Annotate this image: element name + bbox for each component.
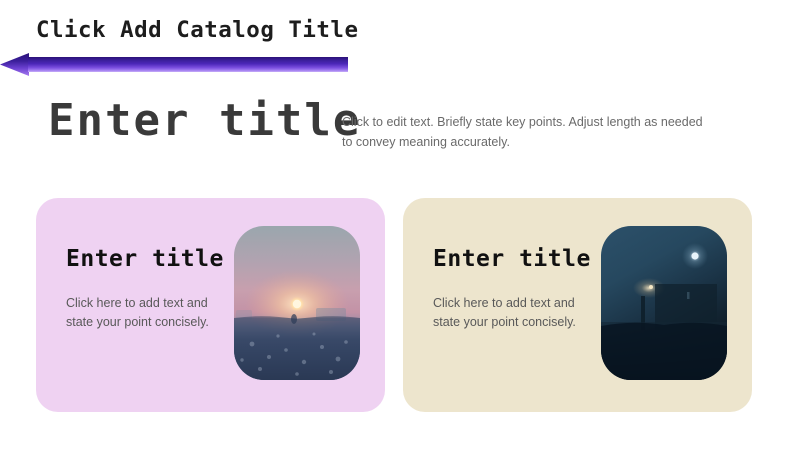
card-row: Enter title Click here to add text and s…: [0, 198, 799, 414]
card-1-title[interactable]: Enter title: [66, 246, 236, 272]
slide-header: Click Add Catalog Title: [0, 0, 799, 80]
card-2-title[interactable]: Enter title: [433, 246, 603, 272]
night-sky-moon-photo[interactable]: [601, 226, 727, 380]
misty-sunrise-field-photo[interactable]: [234, 226, 360, 380]
card-2-body-text[interactable]: Click here to add text and state your po…: [433, 294, 583, 332]
intro-section: Enter title Click to edit text. Briefly …: [0, 92, 799, 172]
header-divider-bar: [28, 57, 348, 72]
content-card-2[interactable]: Enter title Click here to add text and s…: [403, 198, 752, 412]
left-arrow-icon: [0, 53, 29, 76]
card-1-text-block: Enter title Click here to add text and s…: [66, 246, 236, 332]
card-2-text-block: Enter title Click here to add text and s…: [433, 246, 603, 332]
content-card-1[interactable]: Enter title Click here to add text and s…: [36, 198, 385, 412]
catalog-title[interactable]: Click Add Catalog Title: [36, 18, 358, 43]
intro-body-text[interactable]: Click to edit text. Briefly state key po…: [342, 112, 704, 152]
card-1-body-text[interactable]: Click here to add text and state your po…: [66, 294, 216, 332]
intro-title[interactable]: Enter title: [48, 92, 361, 150]
